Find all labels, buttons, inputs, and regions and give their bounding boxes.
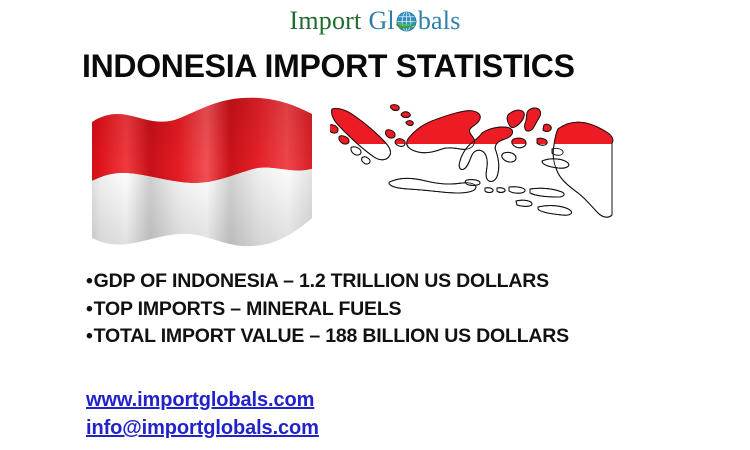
bullet-icon: • (86, 268, 93, 296)
brand-logo[interactable]: ImportGl bals (0, 4, 750, 38)
brand-logo-text: ImportGl bals (289, 8, 460, 34)
list-item: •GDP OF INDONESIA – 1.2 TRILLION US DOLL… (86, 268, 686, 296)
website-link[interactable]: www.importglobals.com (86, 386, 319, 414)
indonesia-flag (84, 92, 320, 258)
bullet-icon: • (86, 323, 93, 351)
globe-icon (395, 10, 418, 33)
brand-logo-import: Import (289, 6, 361, 35)
list-item: •TOP IMPORTS – MINERAL FUELS (86, 296, 686, 324)
list-item-text: GDP OF INDONESIA – 1.2 TRILLION US DOLLA… (94, 270, 549, 292)
list-item-text: TOP IMPORTS – MINERAL FUELS (94, 298, 402, 320)
brand-logo-bals: bals (418, 6, 461, 35)
page-title: INDONESIA IMPORT STATISTICS (82, 48, 575, 85)
brand-logo-gl: Gl (368, 6, 394, 35)
indonesia-map (330, 95, 628, 250)
email-link[interactable]: info@importglobals.com (86, 414, 319, 442)
statistics-list: •GDP OF INDONESIA – 1.2 TRILLION US DOLL… (86, 268, 686, 351)
list-item: •TOTAL IMPORT VALUE – 188 BILLION US DOL… (86, 323, 686, 351)
poster-canvas: ImportGl bals IND (0, 0, 750, 450)
list-item-text: TOTAL IMPORT VALUE – 188 BILLION US DOLL… (94, 325, 569, 347)
bullet-icon: • (86, 296, 93, 324)
contact-links: www.importglobals.com info@importglobals… (86, 386, 319, 443)
